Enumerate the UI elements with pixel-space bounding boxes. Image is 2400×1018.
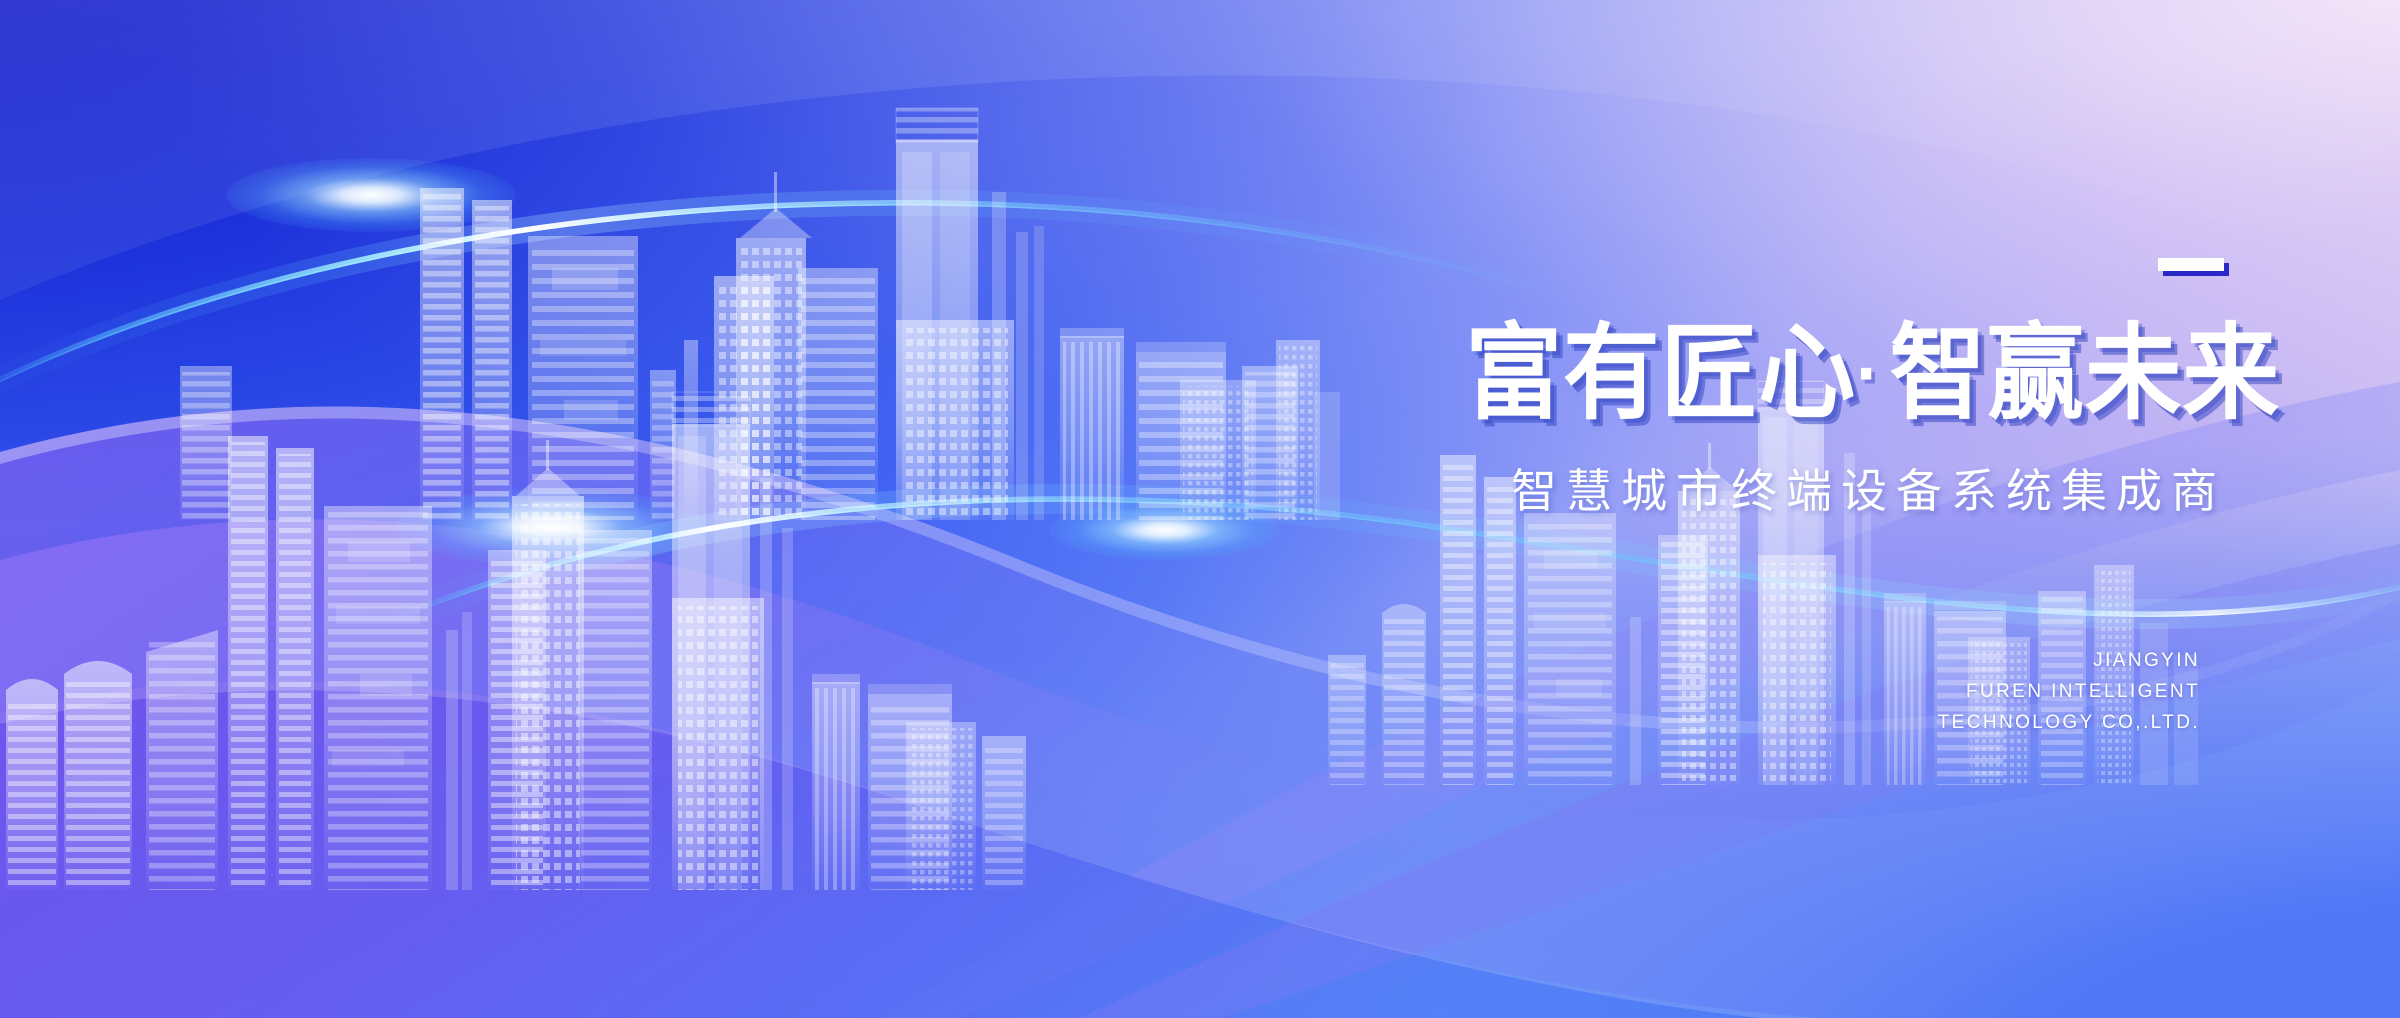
title-part-2: 智赢未来 [1889, 316, 2280, 432]
company-line-1: JIANGYIN [1680, 646, 2200, 677]
page-title: 富有匠心·智赢未来 [1465, 320, 2228, 429]
company-name-english: JIANGYIN FUREN INTELLIGENT TECHNOLOGY CO… [1680, 646, 2200, 738]
banner-canvas: 富有匠心·智赢未来 智慧城市终端设备系统集成商 JIANGYIN FUREN I… [0, 0, 2400, 1018]
title-separator-dot: · [1856, 329, 1889, 417]
accent-dash [2158, 258, 2224, 271]
company-line-2: FUREN INTELLIGENT [1680, 677, 2200, 708]
headline-block: 富有匠心·智赢未来 智慧城市终端设备系统集成商 [1408, 258, 2228, 521]
company-line-3: TECHNOLOGY CO,.LTD. [1680, 708, 2200, 739]
title-part-1: 富有匠心 [1465, 316, 1856, 432]
page-subtitle: 智慧城市终端设备系统集成商 [1408, 455, 2228, 521]
cityscape-bottom-left [0, 330, 1040, 890]
